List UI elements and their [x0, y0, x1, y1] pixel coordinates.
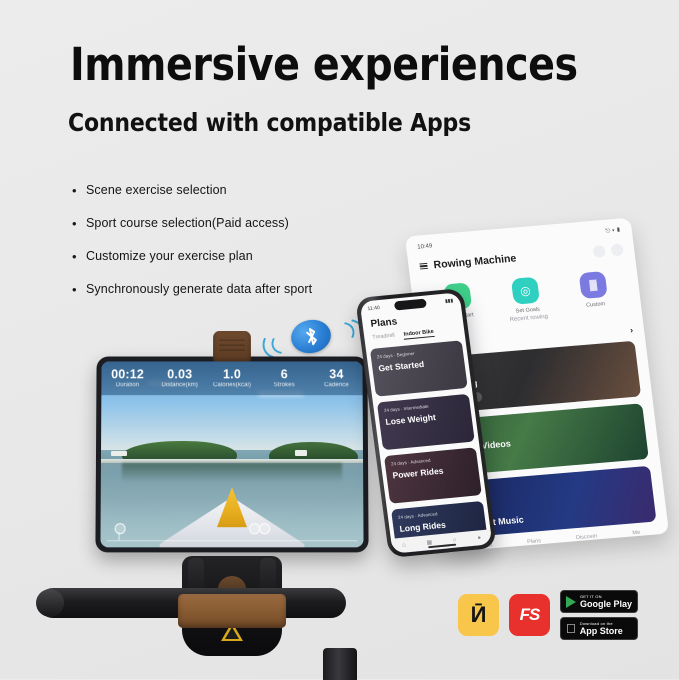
list-item: • Synchronously generate data after spor… — [72, 281, 412, 298]
metric-cadence: 34 Cadence — [310, 367, 362, 390]
metric-label: Distance(km) — [154, 381, 206, 390]
bullet-icon: • — [72, 248, 86, 265]
apple-icon:  — [566, 622, 576, 635]
hud-progress-bar — [106, 540, 357, 541]
phone-plan-list: 24 days · Beginner Get Started 24 days ·… — [370, 340, 486, 537]
nav-home-icon[interactable]: ⌂ — [402, 542, 406, 548]
google-play-badge[interactable]: GET IT ON Google Play — [560, 590, 638, 613]
badge-eyebrow: Download on the — [580, 622, 623, 626]
bullet-icon: • — [72, 215, 86, 232]
status-icons: ▮▮▮ — [445, 297, 454, 304]
bluetooth-glyph — [301, 324, 320, 349]
frame-post — [323, 648, 357, 680]
search-icon[interactable] — [592, 245, 605, 258]
metric-label: Strokes — [258, 381, 310, 390]
workout-metrics-bar: 00:12 Duration 0.03 Distance(km) 1.0 Cal… — [101, 361, 362, 395]
profile-icon[interactable] — [610, 243, 623, 256]
promo-banner: Immersive experiences Connected with com… — [0, 0, 679, 679]
google-play-icon — [566, 596, 576, 608]
metric-label: Duration — [101, 381, 153, 390]
status-time: 10:49 — [417, 243, 433, 251]
badge-label: App Store — [580, 627, 623, 636]
page-subtitle: Connected with compatible Apps — [68, 110, 570, 135]
list-item-label: Scene exercise selection — [86, 182, 227, 199]
nav-me[interactable]: Me — [632, 530, 640, 537]
app-title: Rowing Machine — [433, 246, 588, 271]
metric-value: 0.03 — [154, 367, 206, 381]
badge-eyebrow: GET IT ON — [580, 595, 632, 599]
status-time: 11:40 — [367, 305, 380, 312]
chart-icon: ▓ — [579, 271, 608, 299]
scene-hud — [100, 523, 363, 541]
status-icons: ⎋ ▾ ▮ — [605, 228, 621, 236]
page-title: Immersive experiences — [70, 42, 572, 87]
tablet-mount-clip — [213, 331, 251, 363]
metric-value: 34 — [310, 367, 362, 381]
app-badges: Ӣ FS GET IT ON Google Play  Download on… — [458, 586, 638, 644]
nav-profile-icon[interactable]: ● — [477, 535, 481, 541]
list-item[interactable]: 24 days · Beginner Get Started — [370, 340, 468, 396]
list-item[interactable]: 24 days · Advanced Power Rides — [384, 447, 482, 503]
plan-title: Get Started — [378, 356, 459, 374]
scene-building — [295, 450, 307, 456]
chevron-right-icon[interactable]: › — [630, 325, 634, 335]
list-item-label: Sport course selection(Paid access) — [86, 215, 289, 232]
quick-action-custom[interactable]: ▓ Custom — [566, 270, 622, 310]
app-store-badge[interactable]:  Download on the App Store — [560, 617, 638, 640]
metric-value: 6 — [258, 367, 310, 381]
metric-strokes: 6 Strokes — [258, 367, 310, 390]
scene-building — [111, 451, 127, 456]
handlebar-grip-wrap — [178, 594, 286, 628]
nav-discover-icon[interactable]: ○ — [453, 537, 457, 543]
handlebar-end-cap — [36, 589, 64, 617]
nav-plans[interactable]: Plans — [527, 538, 541, 545]
hud-marker-icon — [259, 523, 270, 534]
feature-list: • Scene exercise selection • Sport cours… — [72, 182, 412, 314]
target-icon: ◎ — [511, 277, 540, 305]
plan-title: Power Rides — [392, 463, 473, 481]
phone-tabs: Treadmill Indoor Bike — [372, 327, 459, 343]
metric-value: 1.0 — [206, 367, 258, 381]
phone-page-title: Plans — [370, 316, 398, 329]
quick-action-set-goals[interactable]: ◎ Set Goals — [498, 276, 554, 316]
badge-label: Google Play — [580, 600, 632, 609]
kinomap-logo[interactable]: Ӣ — [458, 594, 499, 636]
list-item-label: Customize your exercise plan — [86, 248, 253, 265]
metric-calories: 1.0 Calories(kcal) — [206, 367, 258, 390]
menu-icon[interactable] — [419, 261, 428, 272]
metric-label: Cadence — [310, 381, 362, 390]
fs-logo[interactable]: FS — [509, 594, 550, 636]
scene-reflection — [122, 463, 342, 481]
hud-marker-stem — [119, 532, 120, 540]
metric-value: 00:12 — [101, 367, 153, 381]
list-item: • Sport course selection(Paid access) — [72, 215, 412, 232]
tablet-screen: 00:12 Duration 0.03 Distance(km) 1.0 Cal… — [100, 361, 363, 547]
phone-status-bar: 11:40 ▮▮▮ — [360, 294, 461, 314]
hud-marker-icon — [115, 523, 126, 534]
tab-treadmill[interactable]: Treadmill — [372, 333, 395, 343]
nav-discover[interactable]: Discover — [576, 533, 598, 541]
tab-indoor-bike[interactable]: Indoor Bike — [403, 329, 434, 340]
plan-title: Lose Weight — [385, 409, 466, 427]
metric-distance: 0.03 Distance(km) — [154, 367, 206, 390]
list-item: • Customize your exercise plan — [72, 248, 412, 265]
list-item-label: Synchronously generate data after sport — [86, 281, 312, 298]
tablet-device: 00:12 Duration 0.03 Distance(km) 1.0 Cal… — [95, 356, 368, 552]
bullet-icon: • — [72, 182, 86, 199]
store-badges: GET IT ON Google Play  Download on the … — [560, 590, 638, 640]
bullet-icon: • — [72, 281, 86, 298]
metric-label: Calories(kcal) — [206, 381, 258, 390]
metric-duration: 00:12 Duration — [101, 367, 153, 390]
list-item: • Scene exercise selection — [72, 182, 412, 199]
list-item[interactable]: 24 days · Intermediate Lose Weight — [377, 394, 475, 450]
